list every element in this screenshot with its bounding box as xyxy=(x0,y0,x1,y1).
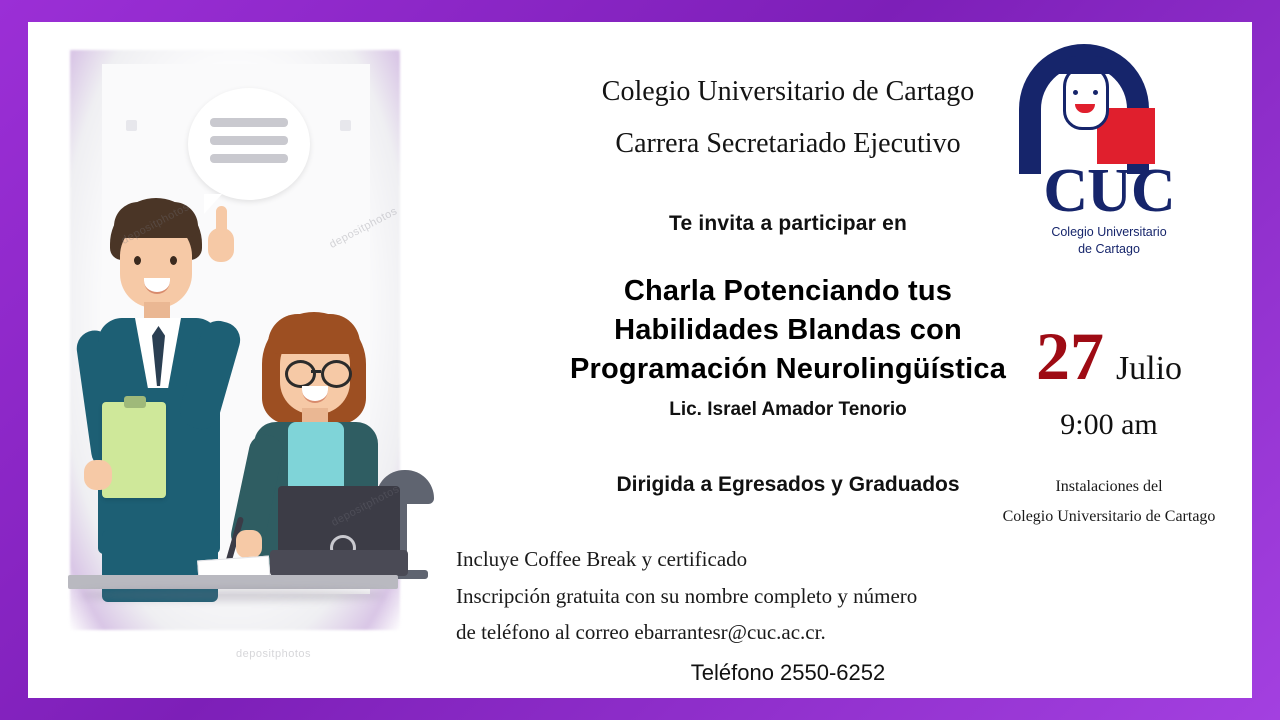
logo-subtitle-line-1: Colegio Universitario xyxy=(1009,224,1209,241)
decor-dot xyxy=(126,120,137,131)
logo-face-eye xyxy=(1073,90,1078,95)
details-line-3: de teléfono al correo ebarrantesr@cuc.ac… xyxy=(456,614,1138,650)
laptop-base xyxy=(270,550,408,576)
bubble-line xyxy=(210,118,288,127)
clipboard-clip xyxy=(124,396,146,408)
woman-top xyxy=(288,422,344,496)
details-line-1: Incluye Coffee Break y certificado xyxy=(456,541,1138,577)
woman-hand xyxy=(236,530,262,558)
poster-card: depositphotos depositphotos depositphoto… xyxy=(28,22,1252,698)
man-pointing-finger xyxy=(216,206,227,238)
decor-dot xyxy=(340,120,351,131)
logo-face-eye xyxy=(1093,90,1098,95)
event-date: 27 Julio xyxy=(984,326,1234,388)
details-block: Incluye Coffee Break y certificado Inscr… xyxy=(438,541,1138,649)
cuc-logo: CUC Colegio Universitario de Cartago xyxy=(1009,42,1209,262)
right-column: CUC Colegio Universitario de Cartago 27 … xyxy=(984,42,1234,533)
event-venue-line-2: Colegio Universitario de Cartago xyxy=(984,502,1234,532)
illustration-people-presentation: depositphotos depositphotos depositphoto… xyxy=(40,30,435,690)
bubble-line xyxy=(210,154,288,163)
event-month: Julio xyxy=(1116,350,1182,388)
logo-graduate-hair xyxy=(1059,56,1113,74)
woman-bangs xyxy=(268,314,360,354)
man-eye xyxy=(170,256,177,265)
man-eye xyxy=(134,256,141,265)
event-venue: Instalaciones del Colegio Universitario … xyxy=(984,472,1234,533)
glasses-bridge xyxy=(311,370,321,373)
man-left-hand xyxy=(84,460,112,490)
logo-subtitle-line-2: de Cartago xyxy=(1009,241,1209,258)
event-venue-line-1: Instalaciones del xyxy=(984,472,1234,502)
speech-bubble-icon xyxy=(188,88,310,200)
glasses-icon xyxy=(285,360,316,388)
event-day: 27 xyxy=(1036,326,1104,387)
event-time: 9:00 am xyxy=(984,408,1234,442)
watermark-text: depositphotos xyxy=(236,648,311,660)
clipboard-icon xyxy=(102,402,166,498)
logo-subtitle: Colegio Universitario de Cartago xyxy=(1009,224,1209,258)
contact-phone: Teléfono 2550-6252 xyxy=(438,660,1138,686)
bubble-line xyxy=(210,136,288,145)
poster-canvas: depositphotos depositphotos depositphoto… xyxy=(0,0,1280,720)
desk-shadow xyxy=(80,589,385,601)
details-line-2: Inscripción gratuita con su nombre compl… xyxy=(456,578,1138,614)
desk-surface xyxy=(68,575,398,589)
glasses-icon xyxy=(321,360,352,388)
logo-acronym: CUC xyxy=(1009,160,1209,222)
